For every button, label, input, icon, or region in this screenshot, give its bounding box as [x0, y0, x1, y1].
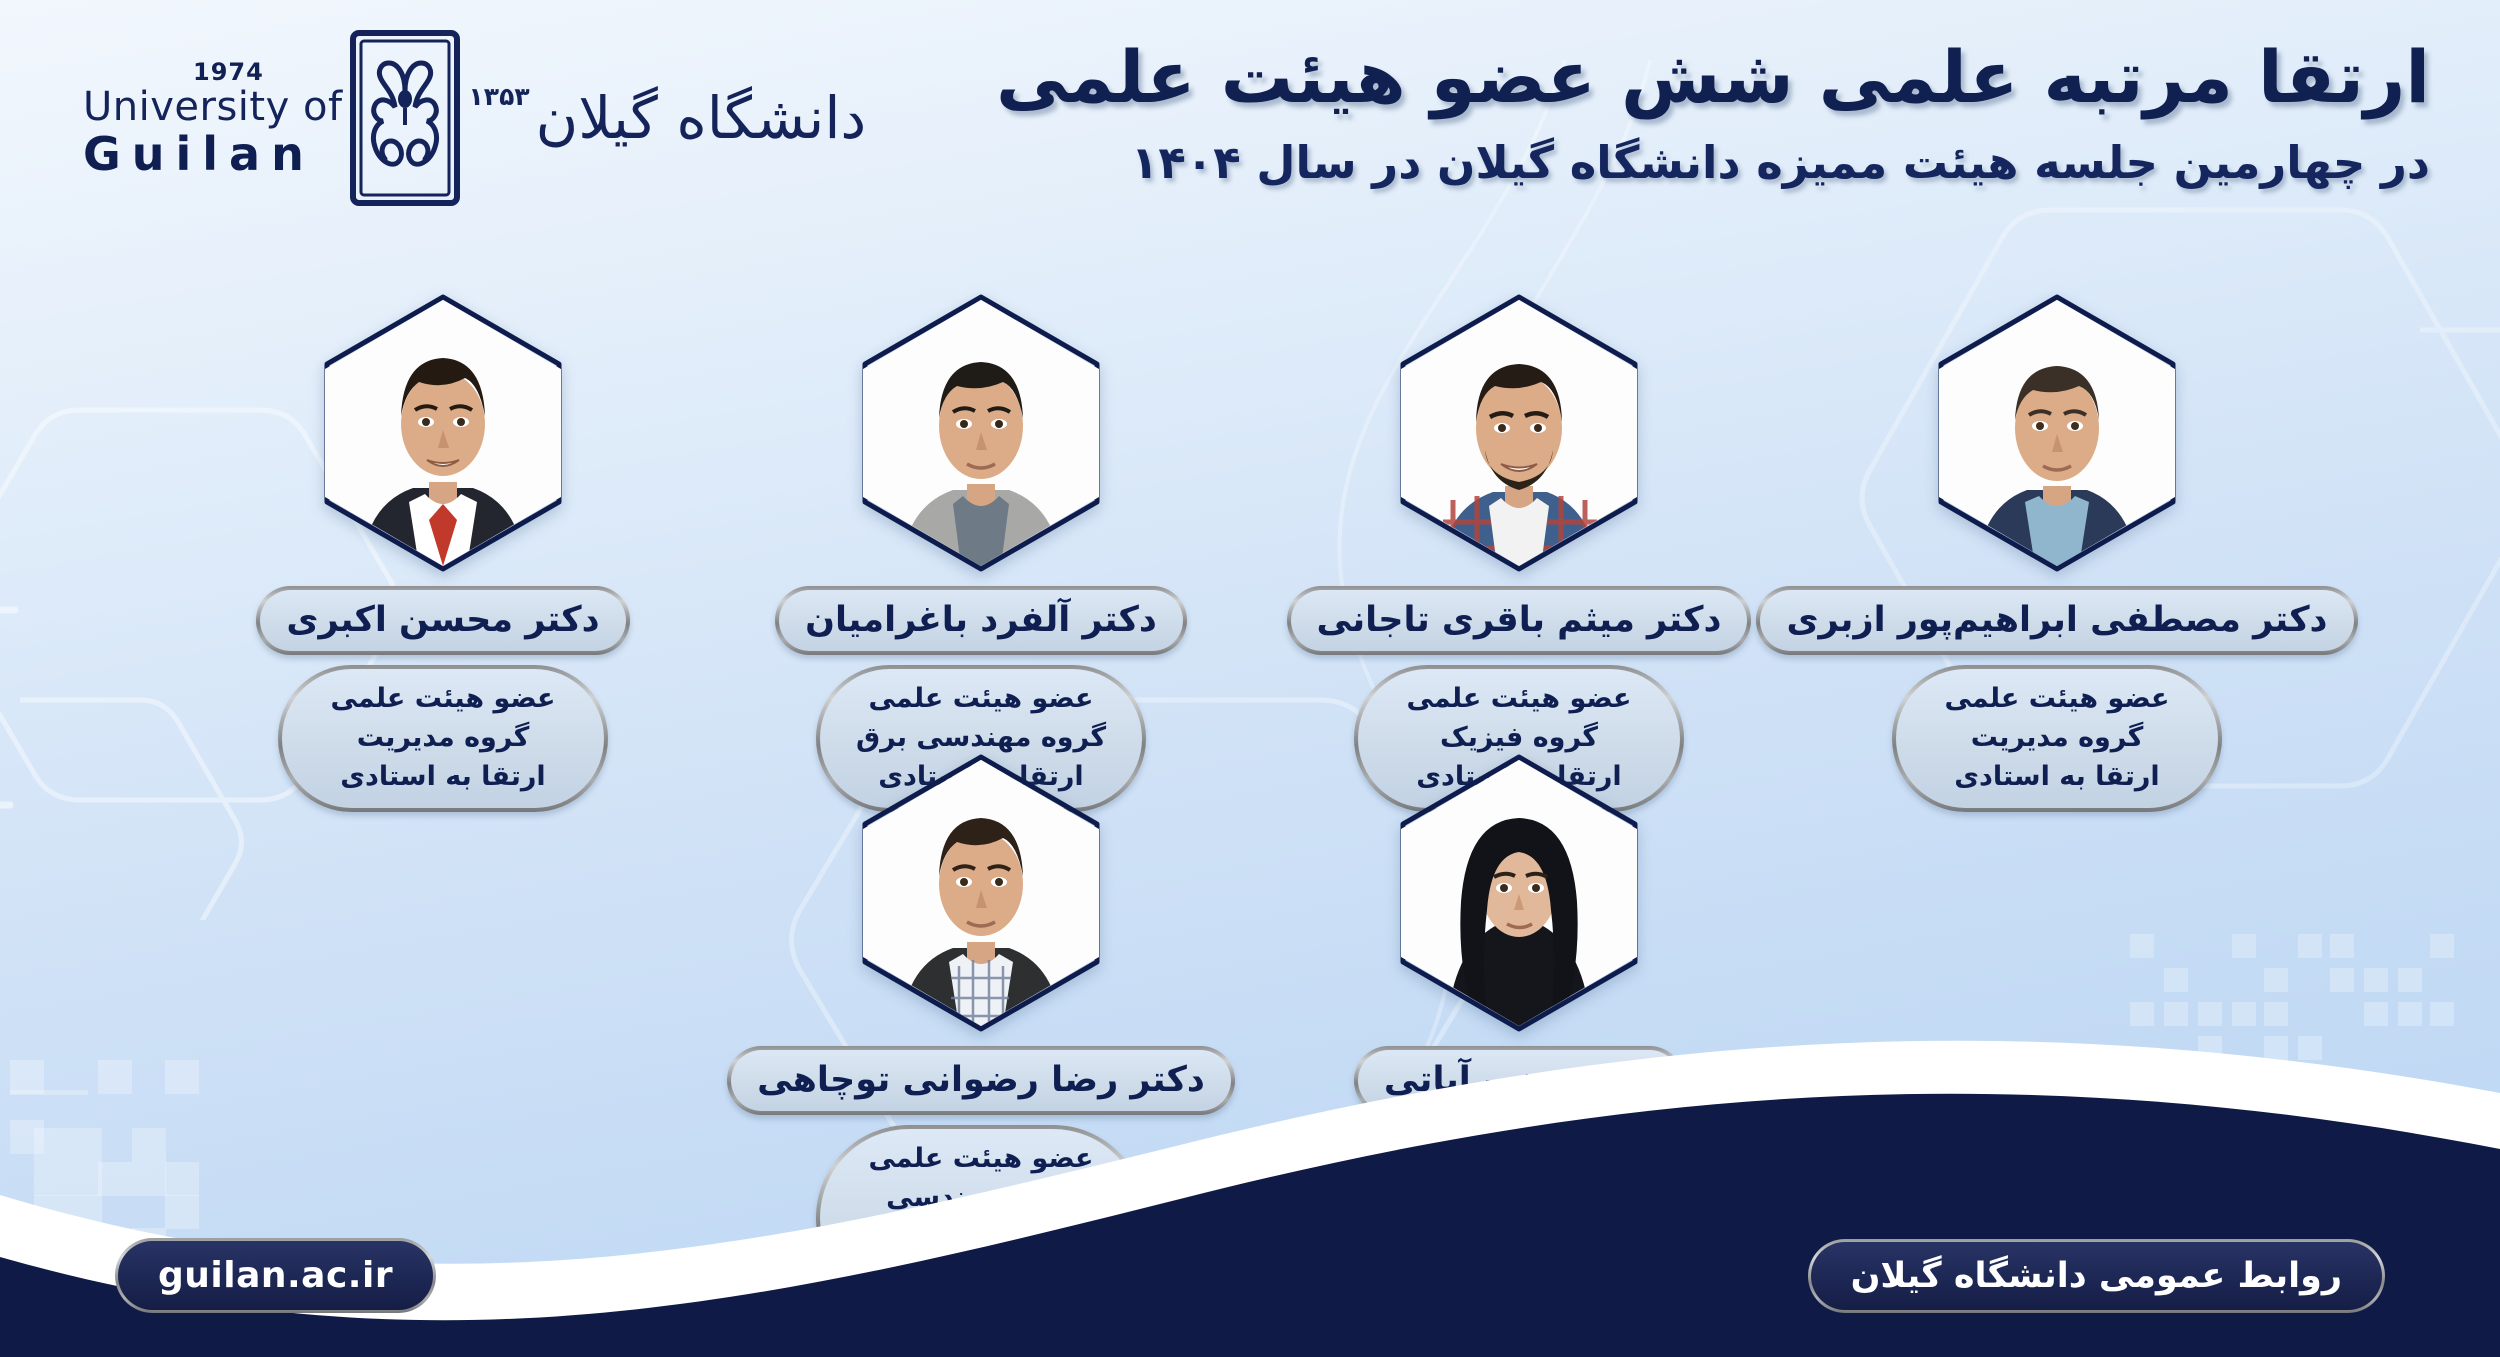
person-photo-frame: [1401, 300, 1637, 566]
website-badge[interactable]: guilan.ac.ir: [115, 1238, 436, 1313]
person-card: دکتر آلفرد باغرامیان عضو هیئت علمی گروه …: [771, 300, 1191, 812]
headline-block: ارتقا مرتبه علمی شش عضو هیئت علمی در چها…: [1030, 34, 2430, 192]
logo-guilan: Guilan: [83, 131, 315, 177]
page-subtitle: در چهارمین جلسه هیئت ممیزه دانشگاه گیلان…: [1030, 134, 2430, 193]
person-department: عضو هیئت علمی گروه مدیریت: [312, 679, 574, 757]
person-card: دکتر میثم باقری تاجانی عضو هیئت علمی گرو…: [1309, 300, 1729, 812]
person-name: دکتر مصطفی ابراهیم‌پور ازبری: [1756, 586, 2357, 655]
butterfly-emblem-icon: [349, 29, 461, 207]
people-row-top: دکتر مصطفی ابراهیم‌پور ازبری عضو هیئت عل…: [0, 300, 2500, 812]
logo-university-of: University of: [83, 87, 343, 127]
poster-canvas: 1974 University of Guilan ۱۳۵۳ دانشگاه گ…: [0, 0, 2500, 1357]
person-card: دکتر مصطفی ابراهیم‌پور ازبری عضو هیئت عل…: [1847, 300, 2267, 812]
university-logo: 1974 University of Guilan ۱۳۵۳ دانشگاه گ…: [75, 28, 875, 208]
person-department: عضو هیئت علمی گروه فیزیک: [1388, 679, 1650, 757]
person-name: دکتر آلفرد باغرامیان: [775, 586, 1187, 655]
person-department: عضو هیئت علمی گروه مدیریت: [1926, 679, 2188, 757]
person-card: دکتر محسن اکبری عضو هیئت علمی گروه مدیری…: [233, 300, 653, 812]
logo-english-text: 1974 University of Guilan: [83, 60, 343, 177]
person-photo-frame: [863, 300, 1099, 566]
person-department: عضو هیئت علمی گروه مهندسی برق: [850, 679, 1112, 757]
logo-year-gregorian: 1974: [193, 60, 264, 84]
logo-persian-text: ۱۳۵۳ دانشگاه گیلان: [467, 82, 867, 155]
public-relations-badge: روابط عمومی دانشگاه گیلان: [1808, 1239, 2385, 1313]
person-name: دکتر میثم باقری تاجانی: [1287, 586, 1752, 655]
logo-persian-name: دانشگاه گیلان: [536, 84, 867, 152]
person-photo-frame: [1939, 300, 2175, 566]
person-photo-frame: [325, 300, 561, 566]
person-name: دکتر محسن اکبری: [256, 586, 629, 655]
page-title: ارتقا مرتبه علمی شش عضو هیئت علمی: [1030, 34, 2430, 122]
logo-year-persian: ۱۳۵۳: [469, 82, 530, 111]
